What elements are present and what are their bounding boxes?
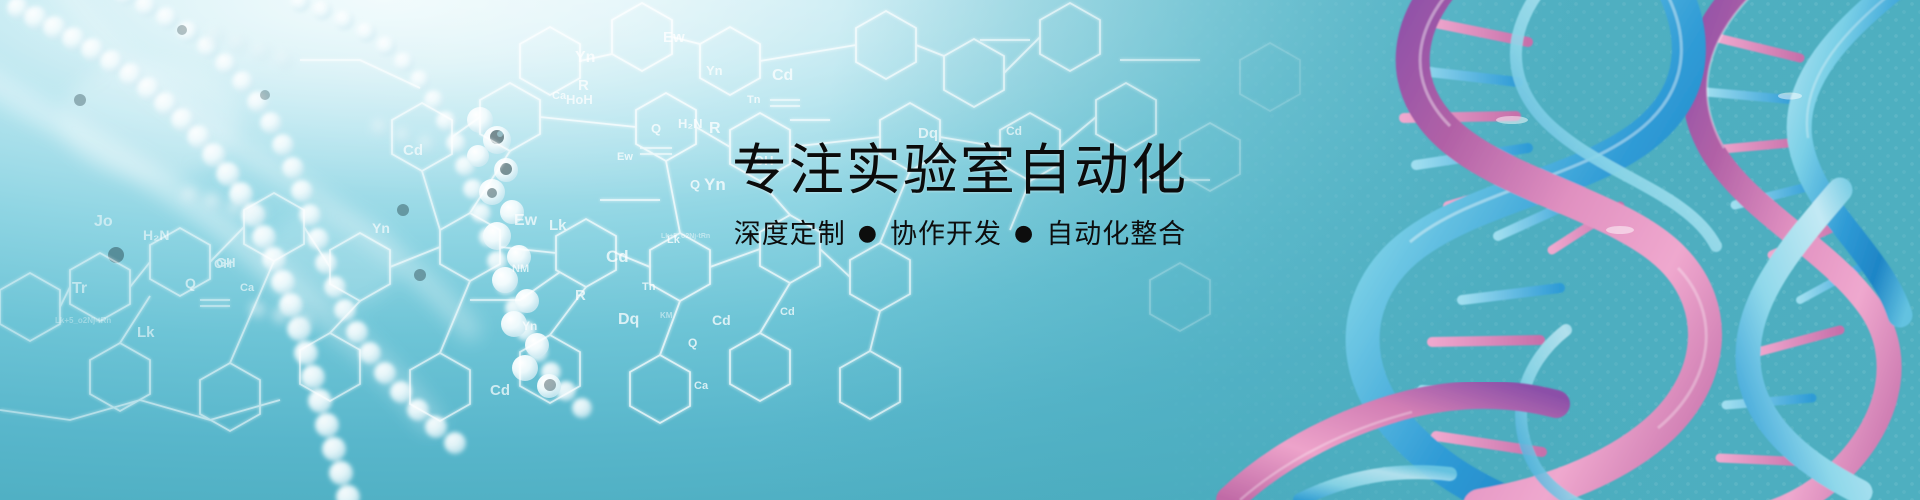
hero-text-block: 专注实验室自动化 深度定制●协作开发●自动化整合 <box>0 138 1920 252</box>
bullet-separator-icon: ● <box>858 220 878 249</box>
page-title: 专注实验室自动化 <box>0 138 1920 203</box>
bullet-separator-icon-2: ● <box>1014 220 1034 249</box>
subtitle-item-1: 深度定制 <box>734 219 846 250</box>
hero-banner: CdCdCdCdCdCdCdYnYnYnYnYnRRRQQQQLkLkLkOHO… <box>0 0 1920 500</box>
hero-subtitle: 深度定制●协作开发●自动化整合 <box>0 217 1920 252</box>
subtitle-item-3: 自动化整合 <box>1046 219 1186 250</box>
subtitle-item-2: 协作开发 <box>890 219 1002 250</box>
